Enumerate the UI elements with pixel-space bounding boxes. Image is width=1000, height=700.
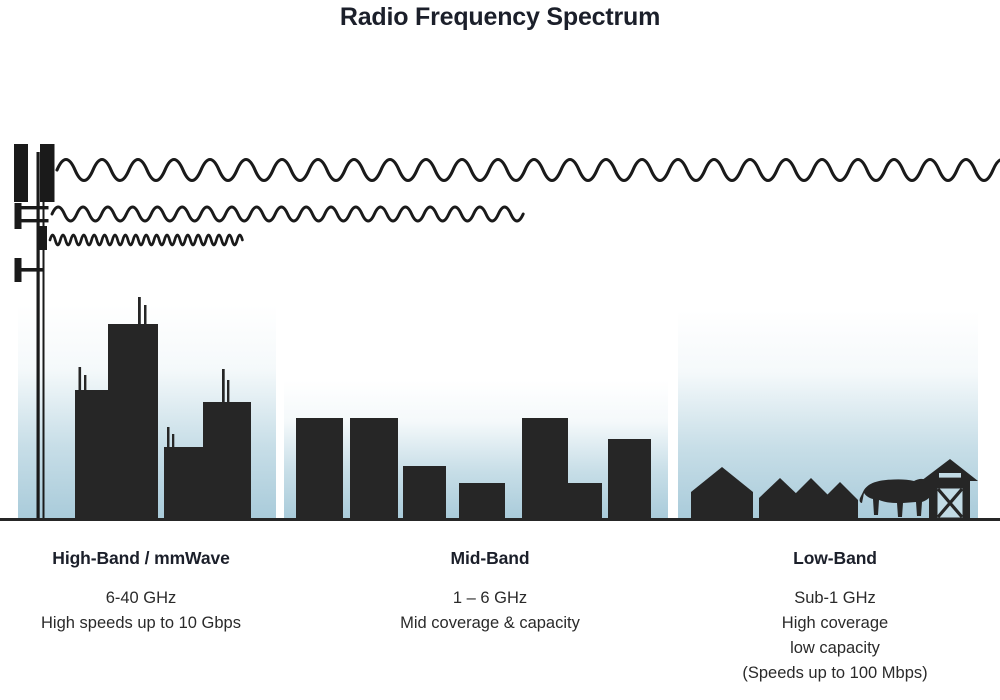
cell-tower (14, 144, 55, 520)
band-detail-low-4: (Speeds up to 100 Mbps) (690, 661, 980, 686)
building-high-4-spire-b (227, 380, 229, 403)
caption-low-band: Low-Band Sub-1 GHz High coverage low cap… (690, 548, 980, 686)
building-mid-5 (522, 418, 568, 519)
band-detail-low-3: low capacity (690, 636, 980, 661)
band-detail-low-1: Sub-1 GHz (690, 586, 980, 611)
band-detail-high-2: High speeds up to 10 Gbps (10, 611, 272, 636)
tower-crossbar-upper (15, 206, 49, 209)
band-detail-mid-2: Mid coverage & capacity (330, 611, 650, 636)
building-high-2-spire-b (144, 305, 147, 325)
tower-crossbar-mid (15, 219, 49, 222)
band-detail-mid-1: 1 – 6 GHz (330, 586, 650, 611)
antenna-panel-third (39, 226, 47, 250)
ground-line (0, 518, 1000, 521)
building-high-4-spire-a (222, 369, 225, 403)
caption-mid-band: Mid-Band 1 – 6 GHz Mid coverage & capaci… (330, 548, 650, 636)
building-high-4 (203, 402, 251, 519)
antenna-panel-top-left (14, 144, 28, 202)
building-high-1-spire-a (79, 367, 82, 391)
band-detail-low-2: High coverage (690, 611, 980, 636)
tower-crossbar-lower (15, 268, 45, 272)
wave-mid-band (52, 207, 523, 221)
skyline-high-band (75, 297, 251, 519)
building-high-3-spire-b (172, 434, 174, 448)
band-name-mid: Mid-Band (330, 548, 650, 569)
wave-high-band (50, 235, 242, 245)
building-mid-1 (296, 418, 343, 519)
antenna-panel-top-right (40, 144, 55, 202)
building-high-3-spire-a (167, 427, 170, 448)
building-mid-3 (403, 466, 446, 519)
skyline-mid-band (296, 418, 651, 519)
band-name-high: High-Band / mmWave (10, 548, 272, 569)
house-low-1 (691, 467, 753, 519)
barn-icon (921, 459, 978, 519)
building-mid-6 (568, 483, 602, 519)
building-mid-7 (608, 439, 651, 519)
building-high-2-spire-a (138, 297, 141, 325)
scene-low-band (691, 459, 978, 519)
caption-high-band: High-Band / mmWave 6-40 GHz High speeds … (10, 548, 272, 636)
wave-low-band (57, 160, 1000, 181)
building-mid-4 (459, 483, 505, 519)
building-high-1-spire-b (84, 375, 86, 391)
house-low-4 (822, 482, 858, 519)
infographic-canvas: Radio Frequency Spectrum (0, 0, 1000, 700)
building-mid-2 (350, 418, 398, 519)
building-high-2 (108, 324, 158, 519)
band-detail-high-1: 6-40 GHz (10, 586, 272, 611)
band-name-low: Low-Band (690, 548, 980, 569)
